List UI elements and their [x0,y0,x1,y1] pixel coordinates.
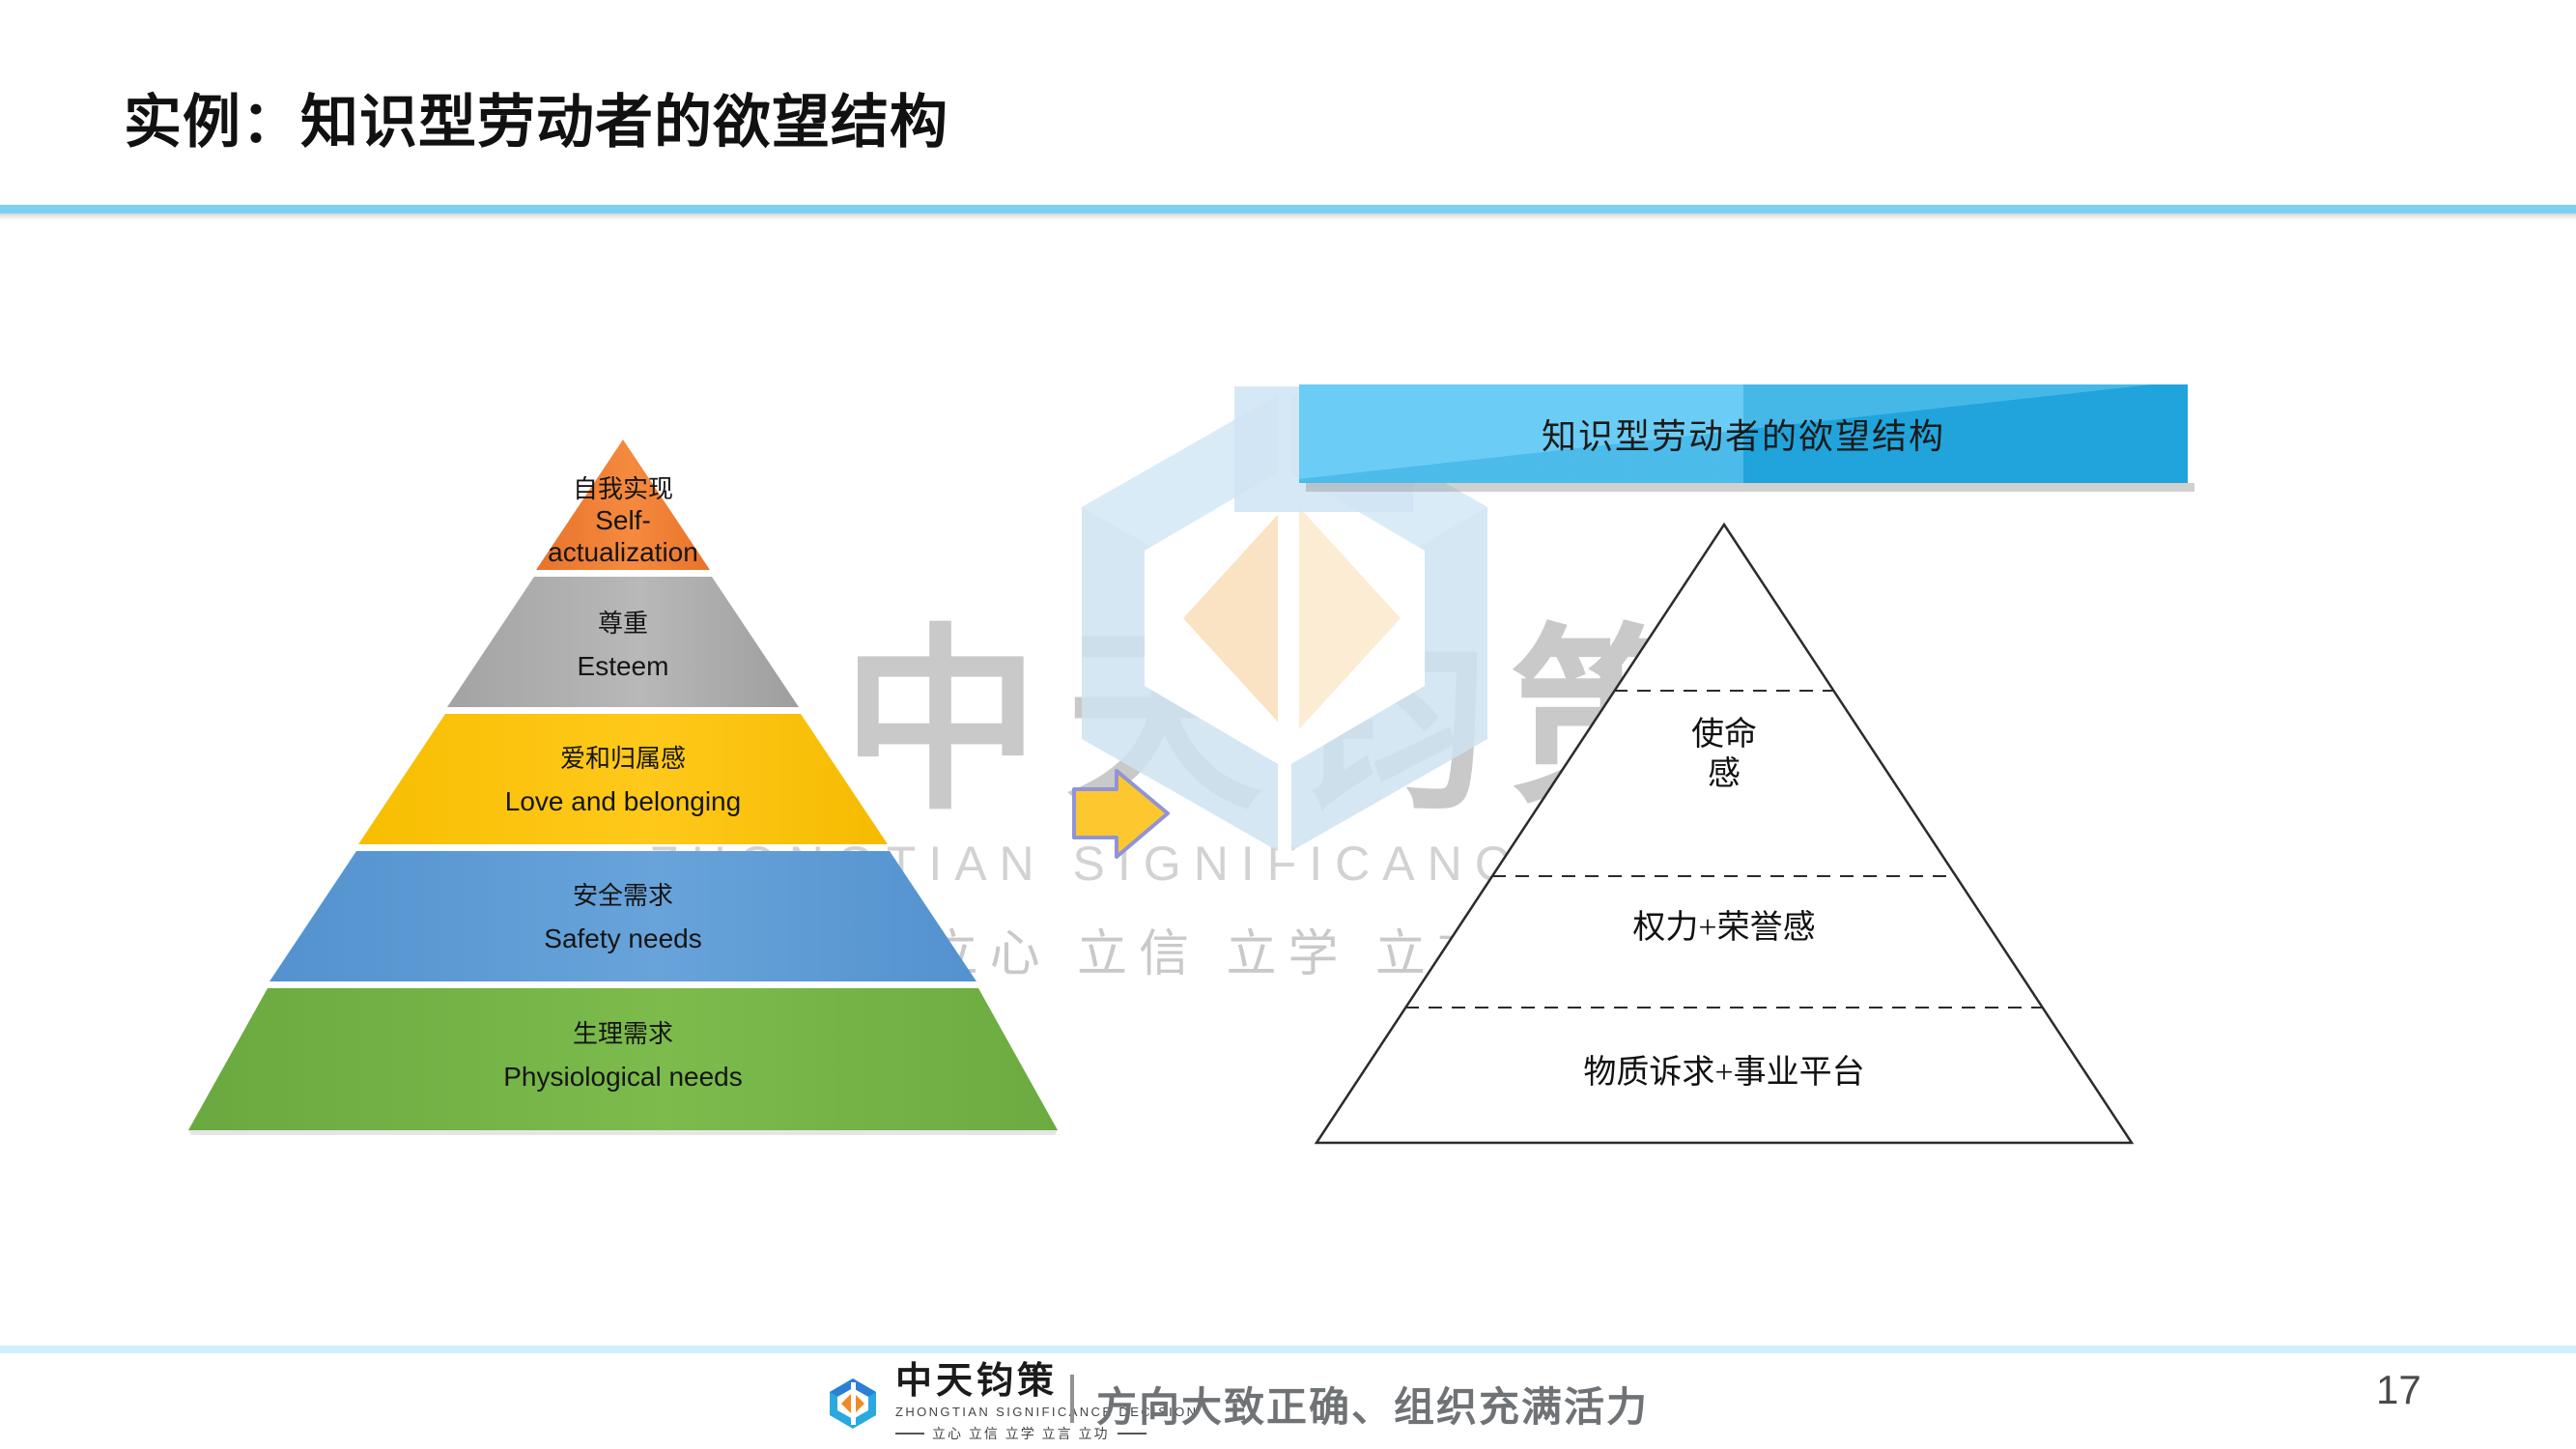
maslow-level-en: Esteem [188,650,1058,682]
desire-level-mission: 使命 感 [1309,715,2139,795]
maslow-level-cn: 安全需求 [188,881,1058,911]
maslow-level-cn: 爱和归属感 [188,744,1058,774]
maslow-level-en: Self- [188,504,1058,536]
header-divider-shadow [0,213,2576,220]
desire-pyramid-banner: 知识型劳动者的欲望结构 [1299,384,2188,483]
desire-level-line-2: 感 [1309,754,2139,794]
desire-pyramid: 使命 感 权力+荣誉感 物质诉求+事业平台 [1309,517,2139,1154]
footer-tagline: 方向大致正确、组织充满活力 [1096,1375,1649,1434]
desire-level-material-platform: 物质诉求+事业平台 [1309,1053,2139,1093]
footer-brand-motto: 立心 立信 立学 立言 立功 [932,1424,1110,1443]
slide-canvas: 实例：知识型劳动者的欲望结构 中天钧策 ZHONGTIAN SIGNIFICAN… [0,0,2576,1449]
maslow-level-cn: 生理需求 [188,1019,1058,1049]
maslow-level-en-2: actualization [188,536,1058,568]
footer-separator [1070,1375,1074,1423]
header-divider [0,205,2576,213]
banner-drop-shadow [1306,483,2194,492]
maslow-level-en: Safety needs [188,923,1058,954]
maslow-level-cn: 尊重 [188,609,1058,639]
maslow-level-en: Love and belonging [188,785,1058,817]
page-title: 实例：知识型劳动者的欲望结构 [124,75,948,159]
maslow-level-self-actualization: 自我实现 Self- actualization [188,474,1058,568]
maslow-level-physiological-needs: 生理需求 Physiological needs [188,1019,1058,1093]
desire-level-line-1: 使命 [1309,715,2139,754]
maslow-level-esteem: 尊重 Esteem [188,609,1058,682]
maslow-level-en: Physiological needs [188,1061,1058,1093]
slide-footer: 中天钧策 ZHONGTIAN SIGNIFICANCE DECISION 立心 … [0,1357,2576,1449]
maslow-pyramid: 自我实现 Self- actualization 尊重 Esteem 爱和归属感… [188,440,1058,1135]
desire-level-power-honor: 权力+荣誉感 [1309,908,2139,948]
maslow-level-safety-needs: 安全需求 Safety needs [188,881,1058,954]
maslow-level-love-and-belonging: 爱和归属感 Love and belonging [188,744,1058,817]
right-arrow-icon [1066,768,1173,860]
maslow-level-cn: 自我实现 [188,474,1058,504]
footer-divider [0,1346,2576,1353]
page-number: 17 [2376,1367,2421,1413]
banner-title: 知识型劳动者的欲望结构 [1299,384,2188,483]
company-logo-icon [826,1377,880,1431]
footer-dash-left [895,1433,924,1435]
